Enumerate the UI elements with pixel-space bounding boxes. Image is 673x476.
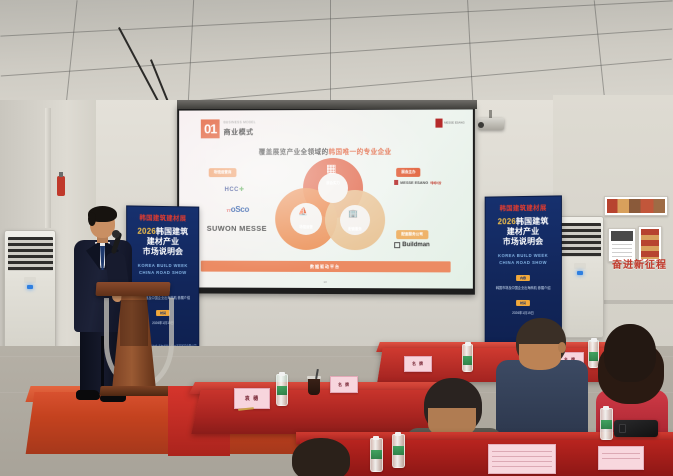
logo-messe-esang: MESSE ESANG 메쎄이상	[394, 180, 441, 185]
projector-lens-icon	[478, 122, 484, 128]
banner-left-english: KOREA BUILD WEEK CHINA ROAD SHOW	[127, 263, 198, 276]
bottle-label	[393, 446, 404, 455]
logo-messe-korean: 메쎄이상	[430, 180, 441, 184]
ac-badge	[24, 277, 36, 283]
speaker-hair-side	[88, 212, 96, 226]
ac-power-led-icon	[27, 285, 33, 289]
water-bottle-near-1	[370, 438, 383, 472]
bottle-label	[371, 450, 382, 459]
phone-camera-icon	[619, 424, 626, 433]
bottle-cap	[395, 432, 401, 436]
logo-suwon-messe: SUWON MESSE	[207, 224, 267, 233]
leaf-icon: ✚	[239, 187, 244, 193]
messe-crest-icon	[394, 180, 398, 185]
slide-brand: MESSE ESANG	[435, 118, 465, 127]
banner-left-en2: CHINA ROAD SHOW	[139, 269, 187, 274]
panorama-photo-poster	[604, 196, 668, 216]
ac-badge	[574, 263, 586, 269]
slide-section-title: 商业模式	[224, 127, 254, 137]
air-conditioner-left	[4, 230, 56, 362]
ac-vent-icon	[559, 223, 600, 257]
bottle-cap	[373, 436, 379, 440]
banner-left-redline: 韩国建筑建材展	[127, 212, 198, 222]
wall-slogan: 奋进新征程	[612, 256, 667, 271]
brand-name: MESSE ESANG	[444, 121, 465, 125]
person-head	[604, 324, 656, 382]
banner-right-sub2: 2026年1月15日	[486, 310, 561, 315]
pink-handout-near	[488, 444, 556, 474]
brand-crest-icon	[435, 119, 442, 128]
slide-eyebrow: BUSINESS MODEL	[224, 120, 256, 124]
logo-buildman: Buildman	[394, 242, 430, 248]
slide-title-part1: 覆盖展览产业全领域的	[259, 149, 329, 156]
logo-hcc-text: HCC	[225, 187, 239, 193]
tag-organizer: 展会主办	[396, 168, 421, 177]
wall-pipe	[45, 108, 51, 228]
banner-right-redline: 韩国建筑建材展	[486, 202, 561, 212]
tag-service-company: 配套服务公司	[396, 230, 428, 239]
podium-base	[99, 386, 170, 396]
projection-screen: 01 BUSINESS MODEL 商业模式 MESSE ESANG 覆盖展览产…	[177, 103, 475, 294]
venn-diagram: ▦ 展会实力 ⛵ 场馆运营 🏢 配套服务	[270, 158, 390, 258]
bottle-label	[277, 386, 287, 395]
water-bottle-mid	[276, 374, 288, 406]
slide-title: 覆盖展览产业全领域的韩国唯一的专业企业	[179, 146, 473, 157]
screen-roller	[177, 100, 477, 109]
buildman-square-icon	[394, 242, 400, 248]
banner-left-year: 2026	[137, 227, 156, 236]
photo-scene: 奋进新征程 01 BUSINESS MODEL 商业模式 MESSE ESANG…	[0, 0, 673, 476]
venn-hole-top	[318, 173, 348, 203]
banner-right-line1: 韩国建筑	[516, 217, 549, 226]
water-bottle-near-2	[392, 434, 405, 468]
cup-lid	[307, 376, 321, 379]
water-bottle-near-3	[600, 408, 613, 440]
presentation-slide: 01 BUSINESS MODEL 商业模式 MESSE ESANG 覆盖展览产…	[179, 109, 473, 288]
banner-right-en1: KOREA BUILD WEEK	[498, 253, 548, 258]
slide-footer-bar: 数据驱动平台	[201, 261, 451, 273]
venn-label-right: 配套服务	[340, 226, 370, 231]
speaker-shoe-left	[76, 390, 100, 400]
fire-extinguisher-icon	[57, 176, 65, 196]
person-nape	[519, 344, 561, 370]
person-ear	[558, 342, 566, 353]
podium-top	[96, 282, 171, 296]
banner-right-main: 2026韩国建筑 建材产业 市场说明会	[486, 217, 561, 247]
venn-label-top: 展会实力	[318, 180, 348, 185]
bottle-cap	[279, 372, 285, 376]
service-icon: 🏢	[348, 210, 358, 218]
bottle-cap	[603, 406, 609, 410]
bottle-label	[463, 356, 472, 365]
booth-icon: ▦	[326, 164, 336, 175]
ac-power-led-icon	[577, 271, 583, 275]
bottle-cap	[465, 342, 471, 346]
banner-right-line3: 市场说明会	[503, 236, 544, 245]
banner-left-line2: 建材产业	[147, 237, 179, 246]
slide-title-highlight: 韩国唯一的专业企业	[328, 149, 391, 156]
logo-hcc: HCC✚	[225, 186, 245, 193]
logo-messe-text: MESSE ESANG	[400, 180, 428, 184]
iced-coffee-cup	[308, 378, 320, 395]
venn-label-left: 场馆运营	[291, 224, 321, 229]
namecard-far-1: 名 牌	[404, 356, 432, 372]
banner-left-line1: 韩国建筑	[156, 227, 188, 236]
logo-buildman-text: Buildman	[402, 242, 430, 248]
tag-venue-operator: 场馆运营商	[209, 168, 237, 177]
pink-handout-right	[598, 446, 644, 470]
slide-section-number: 01	[201, 119, 220, 138]
person-head	[292, 438, 350, 476]
bottle-label	[601, 420, 612, 429]
logo-osco-text: oSco	[231, 205, 249, 214]
slide-page-number: 13	[179, 279, 473, 284]
banner-left-line3: 市场说明会	[143, 246, 183, 255]
microphone-head-icon	[112, 230, 120, 238]
podium-front-panel	[120, 300, 148, 346]
banner-left-en1: KOREA BUILD WEEK	[138, 263, 188, 268]
banner-right-sub: 韩国市场及中国企业出海商机 参展介绍	[486, 286, 561, 291]
logo-osco: TToSco	[227, 205, 249, 214]
hall-icon: ⛵	[298, 208, 308, 216]
smartphone[interactable]	[614, 420, 658, 437]
banner-right-english: KOREA BUILD WEEK CHINA ROAD SHOW	[486, 253, 561, 266]
banner-left-main: 2026韩国建筑 建材产业 市场说明会	[127, 227, 198, 257]
namecard-mid-right: 名 牌	[330, 376, 358, 393]
audience-person-center	[500, 318, 584, 448]
water-bottle-far-1	[462, 344, 473, 372]
banner-right-chip2: 时间	[516, 300, 530, 306]
banner-right-line2: 建材产业	[507, 227, 539, 236]
namecard-foreground: 袁 穗	[234, 388, 270, 409]
banner-right-year: 2026	[498, 217, 516, 226]
audience-person-nearest	[278, 438, 364, 476]
banner-right-chip: 内容	[516, 275, 530, 281]
banner-right-en2: CHINA ROAD SHOW	[499, 259, 547, 264]
ac-vent-icon	[8, 237, 53, 271]
